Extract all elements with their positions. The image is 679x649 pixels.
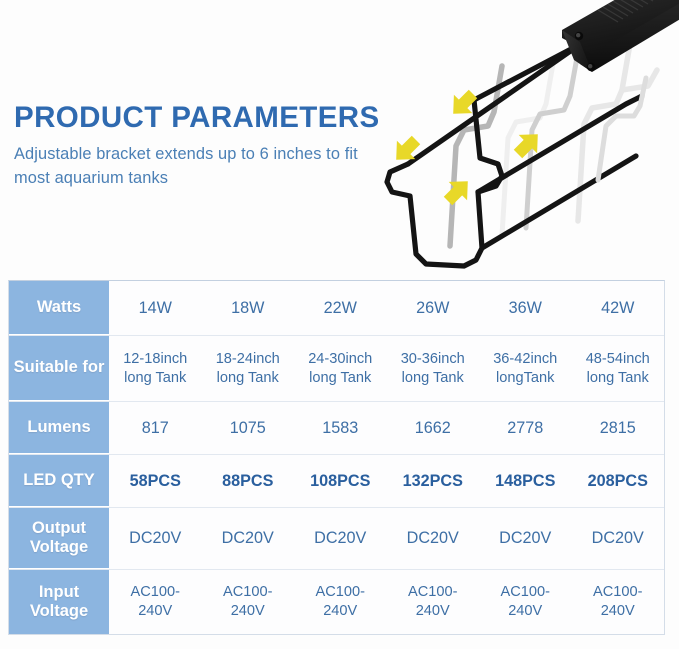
table-cell: 24-30inch long Tank (294, 336, 387, 401)
table-row: Output Voltage DC20V DC20V DC20V DC20V D… (9, 508, 664, 570)
page-subtitle: Adjustable bracket extends up to 6 inche… (14, 143, 364, 190)
table-cell: 22W (294, 281, 387, 335)
hero-section: PRODUCT PARAMETERS Adjustable bracket ex… (0, 0, 679, 280)
row-header-output-voltage: Output Voltage (9, 508, 109, 569)
table-cell: 30-36inch long Tank (387, 336, 480, 401)
table-cell: 12-18inch long Tank (109, 336, 202, 401)
table-cell: 18-24inch long Tank (202, 336, 295, 401)
heading-block: PRODUCT PARAMETERS Adjustable bracket ex… (14, 102, 364, 190)
table-cell: DC20V (109, 508, 202, 569)
table-cell: AC100- 240V (572, 570, 665, 634)
row-values-led-qty: 58PCS 88PCS 108PCS 132PCS 148PCS 208PCS (109, 455, 664, 507)
table-cell: 26W (387, 281, 480, 335)
table-cell: 208PCS (572, 455, 665, 507)
table-cell: 148PCS (479, 455, 572, 507)
table-row: Watts 14W 18W 22W 26W 36W 42W (9, 281, 664, 336)
table-cell: 18W (202, 281, 295, 335)
table-cell: 42W (572, 281, 665, 335)
row-values-output-voltage: DC20V DC20V DC20V DC20V DC20V DC20V (109, 508, 664, 569)
table-cell: 2778 (479, 402, 572, 454)
table-cell: 817 (109, 402, 202, 454)
table-cell: AC100- 240V (479, 570, 572, 634)
table-cell: 2815 (572, 402, 665, 454)
led-fixture (562, 0, 679, 72)
table-cell: 58PCS (109, 455, 202, 507)
row-header-input-voltage: Input Voltage (9, 570, 109, 634)
table-cell: 1075 (202, 402, 295, 454)
table-cell: AC100- 240V (109, 570, 202, 634)
row-values-input-voltage: AC100- 240V AC100- 240V AC100- 240V AC10… (109, 570, 664, 634)
table-cell: 48-54inch long Tank (572, 336, 665, 401)
table-cell: DC20V (294, 508, 387, 569)
table-cell: 36W (479, 281, 572, 335)
row-header-lumens: Lumens (9, 402, 109, 454)
table-cell: DC20V (387, 508, 480, 569)
table-cell: DC20V (479, 508, 572, 569)
table-cell: AC100- 240V (202, 570, 295, 634)
table-cell: 108PCS (294, 455, 387, 507)
table-cell: DC20V (202, 508, 295, 569)
table-row: Lumens 817 1075 1583 1662 2778 2815 (9, 402, 664, 455)
product-image (330, 0, 679, 281)
table-row: LED QTY 58PCS 88PCS 108PCS 132PCS 148PCS… (9, 455, 664, 508)
direction-arrows (387, 85, 547, 210)
table-row: Suitable for 12-18inch long Tank 18-24in… (9, 336, 664, 402)
table-cell: 14W (109, 281, 202, 335)
table-cell: DC20V (572, 508, 665, 569)
row-values-suitable-for: 12-18inch long Tank 18-24inch long Tank … (109, 336, 664, 401)
table-cell: AC100- 240V (387, 570, 480, 634)
table-cell: 88PCS (202, 455, 295, 507)
specifications-table: Watts 14W 18W 22W 26W 36W 42W Suitable f… (8, 280, 665, 635)
table-cell: 36-42inch longTank (479, 336, 572, 401)
row-header-led-qty: LED QTY (9, 455, 109, 507)
row-header-watts: Watts (9, 281, 109, 335)
row-values-watts: 14W 18W 22W 26W 36W 42W (109, 281, 664, 335)
table-cell: 132PCS (387, 455, 480, 507)
table-cell: AC100- 240V (294, 570, 387, 634)
row-values-lumens: 817 1075 1583 1662 2778 2815 (109, 402, 664, 454)
table-row: Input Voltage AC100- 240V AC100- 240V AC… (9, 570, 664, 634)
row-header-suitable-for: Suitable for (9, 336, 109, 401)
table-cell: 1662 (387, 402, 480, 454)
page-title: PRODUCT PARAMETERS (14, 102, 364, 134)
ghost-bracket-mid (450, 66, 502, 246)
table-cell: 1583 (294, 402, 387, 454)
